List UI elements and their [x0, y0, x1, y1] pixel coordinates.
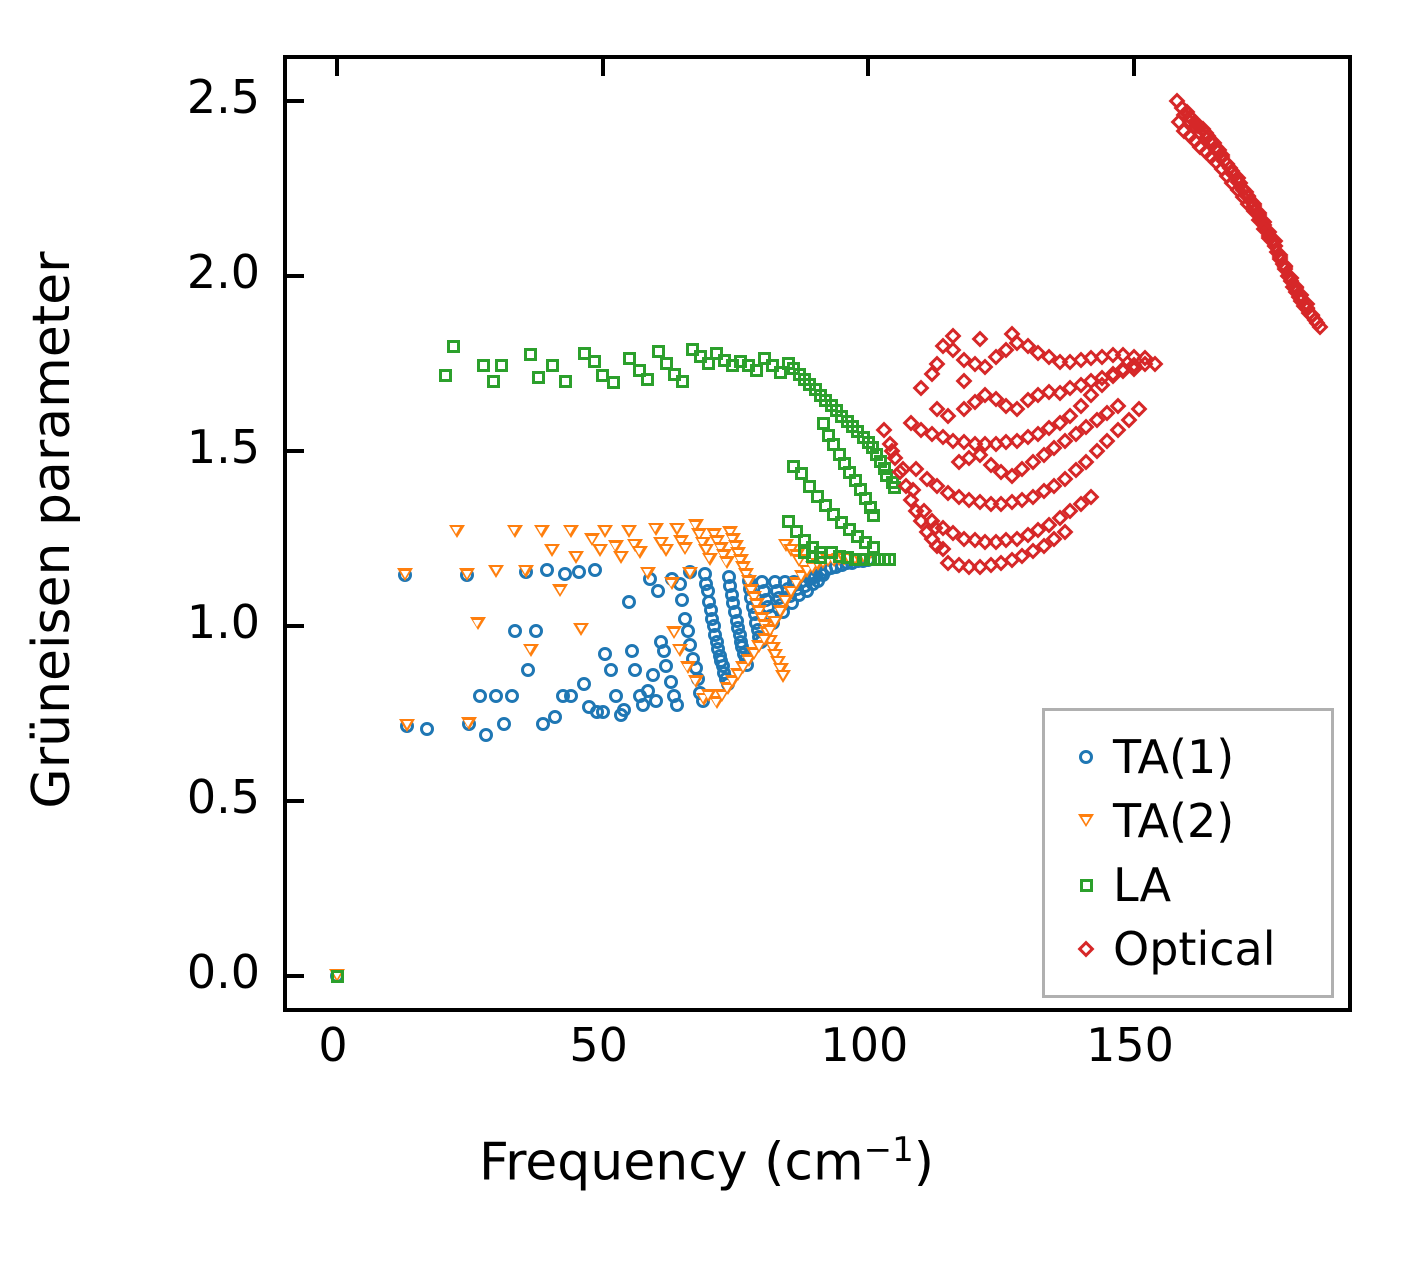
marker-diamond-open	[913, 380, 930, 397]
marker-diamond-open	[1187, 119, 1204, 136]
marker-diamond-open	[1003, 467, 1020, 484]
marker-diamond-open	[1030, 521, 1047, 538]
marker-diamond-open	[1277, 261, 1294, 278]
marker-diamond-open	[950, 453, 967, 470]
marker-diamond-open	[998, 532, 1015, 549]
marker-diamond-open	[1237, 184, 1254, 201]
y-tick-label-1.5: 1.5	[90, 424, 260, 470]
x-tick-label-100: 100	[820, 1022, 908, 1068]
legend-marker-square-open	[1059, 853, 1113, 917]
marker-diamond-open	[1256, 213, 1273, 230]
legend-label: TA(1)	[1113, 731, 1234, 783]
marker-diamond-open	[982, 495, 999, 512]
marker-diamond-open	[1056, 523, 1073, 540]
marker-diamond-open	[1256, 217, 1273, 234]
marker-diamond-open	[1224, 164, 1241, 181]
marker-diamond-open	[1272, 250, 1289, 267]
marker-diamond-open	[1046, 478, 1063, 495]
marker-diamond-open	[1181, 128, 1198, 145]
marker-diamond-open	[950, 556, 967, 573]
marker-diamond-open	[1035, 537, 1052, 554]
marker-diamond-open	[1218, 168, 1235, 185]
marker-diamond-open	[1019, 429, 1036, 446]
marker-diamond-open	[1229, 170, 1246, 187]
marker-diamond-open	[961, 450, 978, 467]
marker-diamond-open	[929, 355, 946, 372]
marker-diamond-open	[924, 425, 941, 442]
marker-diamond-open	[1009, 530, 1026, 547]
marker-diamond-open	[1126, 357, 1143, 374]
marker-diamond-open	[1229, 182, 1246, 199]
marker-diamond-open	[1256, 220, 1273, 237]
marker-diamond-open	[1250, 212, 1267, 229]
marker-diamond-open	[908, 502, 925, 519]
marker-diamond-open	[1266, 238, 1283, 255]
y-tick-0.0	[287, 974, 304, 978]
marker-diamond-open	[1104, 366, 1121, 383]
marker-diamond-open	[892, 464, 909, 481]
marker-diamond-open	[1285, 278, 1302, 295]
marker-diamond-open	[1062, 408, 1079, 425]
legend-item-optical[interactable]: Optical	[1059, 917, 1321, 981]
marker-diamond-open	[1298, 301, 1315, 318]
marker-diamond-open	[924, 513, 941, 530]
marker-diamond-open	[934, 338, 951, 355]
marker-diamond-open	[1099, 404, 1116, 421]
marker-triangle-down-open	[1078, 814, 1094, 827]
marker-diamond-open	[1277, 259, 1294, 276]
marker-diamond-open	[1306, 311, 1323, 328]
marker-diamond-open	[1040, 383, 1057, 400]
marker-diamond-open	[1014, 548, 1031, 565]
marker-diamond-open	[1242, 192, 1259, 209]
marker-diamond-open	[1051, 353, 1068, 370]
marker-diamond-open	[1078, 418, 1095, 435]
marker-diamond-open	[1269, 243, 1286, 260]
marker-diamond-open	[993, 464, 1010, 481]
marker-diamond-open	[1274, 255, 1291, 272]
marker-diamond-open	[1181, 108, 1198, 125]
marker-diamond-open	[987, 348, 1004, 365]
marker-diamond-open	[1173, 100, 1190, 117]
marker-diamond-open	[924, 530, 941, 547]
marker-diamond-open	[1266, 233, 1283, 250]
x-axis-label-tail: )	[914, 1132, 934, 1192]
marker-diamond-open	[1009, 432, 1026, 449]
marker-diamond-open	[1213, 147, 1230, 164]
marker-diamond-open	[1040, 516, 1057, 533]
marker-diamond-open	[881, 436, 898, 453]
marker-diamond-open	[1078, 941, 1095, 958]
marker-diamond-open	[945, 432, 962, 449]
legend-item-ta1[interactable]: TA(1)	[1059, 725, 1321, 789]
marker-diamond-open	[1062, 502, 1079, 519]
marker-diamond-open	[1009, 334, 1026, 351]
y-tick-label-0.5: 0.5	[90, 774, 260, 820]
legend-item-ta2[interactable]: TA(2)	[1059, 789, 1321, 853]
legend-item-la[interactable]: LA	[1059, 853, 1321, 917]
marker-diamond-open	[1056, 471, 1073, 488]
marker-diamond-open	[1301, 304, 1318, 321]
marker-diamond-open	[1014, 492, 1031, 509]
marker-diamond-open	[1261, 227, 1278, 244]
marker-diamond-open	[1168, 93, 1185, 110]
x-axis-label-exponent: −1	[864, 1130, 914, 1170]
marker-diamond-open	[977, 534, 994, 551]
marker-diamond-open	[1266, 238, 1283, 255]
marker-diamond-open	[1094, 369, 1111, 386]
marker-diamond-open	[1019, 338, 1036, 355]
marker-diamond-open	[1003, 551, 1020, 568]
marker-diamond-open	[1234, 189, 1251, 206]
y-axis-label: Grüneisen parameter	[22, 210, 82, 850]
marker-diamond-open	[1171, 114, 1188, 131]
marker-diamond-open	[934, 520, 951, 537]
marker-diamond-open	[945, 341, 962, 358]
marker-diamond-open	[1009, 401, 1026, 418]
marker-diamond-open	[1229, 173, 1246, 190]
x-tick-label-150: 150	[1086, 1022, 1174, 1068]
marker-diamond-open	[1003, 493, 1020, 510]
marker-diamond-open	[1072, 376, 1089, 393]
marker-diamond-open	[950, 488, 967, 505]
marker-diamond-open	[1234, 182, 1251, 199]
x-tick-150	[1132, 59, 1136, 76]
marker-diamond-open	[902, 492, 919, 509]
marker-diamond-open	[1136, 350, 1153, 367]
marker-diamond-open	[894, 460, 911, 477]
marker-diamond-open	[1298, 299, 1315, 316]
marker-diamond-open	[876, 422, 893, 439]
marker-diamond-open	[961, 492, 978, 509]
marker-diamond-open	[1250, 206, 1267, 223]
marker-diamond-open	[1046, 530, 1063, 547]
legend-label: TA(2)	[1113, 795, 1234, 847]
marker-diamond-open	[971, 493, 988, 510]
marker-diamond-open	[1224, 163, 1241, 180]
marker-diamond-open	[1224, 175, 1241, 192]
marker-diamond-open	[902, 415, 919, 432]
marker-diamond-open	[1035, 483, 1052, 500]
marker-diamond-open	[955, 373, 972, 390]
marker-diamond-open	[1030, 345, 1047, 362]
marker-diamond-open	[1136, 355, 1153, 372]
marker-circle-open	[1079, 750, 1093, 764]
marker-diamond-open	[1232, 175, 1249, 192]
marker-diamond-open	[1293, 292, 1310, 309]
marker-diamond-open	[1067, 425, 1084, 442]
marker-diamond-open	[1288, 283, 1305, 300]
marker-diamond-open	[1051, 509, 1068, 526]
marker-diamond-open	[955, 352, 972, 369]
marker-diamond-open	[1208, 138, 1225, 155]
marker-diamond-open	[1293, 290, 1310, 307]
marker-diamond-open	[1296, 297, 1313, 314]
marker-diamond-open	[1240, 187, 1257, 204]
marker-diamond-open	[1115, 362, 1132, 379]
marker-diamond-open	[1046, 439, 1063, 456]
marker-diamond-open	[1083, 387, 1100, 404]
marker-diamond-open	[1003, 325, 1020, 342]
marker-diamond-open	[1088, 443, 1105, 460]
marker-diamond-open	[897, 478, 914, 495]
x-tick-100	[866, 59, 870, 76]
marker-diamond-open	[987, 534, 1004, 551]
marker-diamond-open	[1208, 154, 1225, 171]
marker-diamond-open	[971, 558, 988, 575]
marker-diamond-open	[884, 443, 901, 460]
legend-marker-diamond-open	[1059, 917, 1113, 981]
marker-diamond-open	[945, 525, 962, 542]
marker-diamond-open	[1216, 152, 1233, 169]
marker-diamond-open	[1083, 350, 1100, 367]
marker-diamond-open	[1303, 306, 1320, 323]
marker-diamond-open	[998, 397, 1015, 414]
y-tick-label-2.0: 2.0	[90, 249, 260, 295]
marker-diamond-open	[1203, 149, 1220, 166]
marker-diamond-open	[1176, 107, 1193, 124]
marker-diamond-open	[1245, 198, 1262, 215]
marker-diamond-open	[1051, 415, 1068, 432]
marker-diamond-open	[1035, 446, 1052, 463]
marker-diamond-open	[1192, 119, 1209, 136]
marker-diamond-open	[1083, 488, 1100, 505]
marker-diamond-open	[1078, 453, 1095, 470]
marker-diamond-open	[1110, 397, 1127, 414]
marker-diamond-open	[966, 394, 983, 411]
marker-diamond-open	[966, 355, 983, 372]
marker-diamond-open	[971, 446, 988, 463]
y-tick-0.5	[287, 799, 304, 803]
marker-diamond-open	[1126, 348, 1143, 365]
marker-diamond-open	[955, 434, 972, 451]
marker-diamond-open	[1311, 318, 1328, 335]
marker-diamond-open	[1179, 103, 1196, 120]
y-tick-label-2.5: 2.5	[90, 74, 260, 120]
marker-diamond-open	[1104, 367, 1121, 384]
marker-diamond-open	[971, 331, 988, 348]
legend-marker-circle-open	[1059, 725, 1113, 789]
y-tick-label-1.0: 1.0	[90, 599, 260, 645]
marker-diamond-open	[1250, 205, 1267, 222]
marker-diamond-open	[1120, 411, 1137, 428]
marker-diamond-open	[1197, 129, 1214, 146]
marker-diamond-open	[998, 434, 1015, 451]
marker-diamond-open	[1192, 124, 1209, 141]
marker-diamond-open	[1088, 411, 1105, 428]
marker-diamond-open	[1203, 135, 1220, 152]
marker-diamond-open	[1282, 269, 1299, 286]
marker-diamond-open	[993, 495, 1010, 512]
marker-diamond-open	[1309, 315, 1326, 332]
marker-diamond-open	[1126, 360, 1143, 377]
figure-canvas: Grüneisen parameter 0.00.51.01.52.02.5 0…	[0, 0, 1413, 1264]
marker-diamond-open	[1240, 196, 1257, 213]
marker-diamond-open	[982, 457, 999, 474]
marker-diamond-open	[1218, 156, 1235, 173]
marker-diamond-open	[1056, 432, 1073, 449]
marker-diamond-open	[966, 436, 983, 453]
y-tick-1.5	[287, 449, 304, 453]
marker-diamond-open	[1282, 269, 1299, 286]
marker-diamond-open	[1240, 189, 1257, 206]
marker-diamond-open	[1253, 212, 1270, 229]
marker-diamond-open	[1261, 229, 1278, 246]
marker-diamond-open	[1195, 121, 1212, 138]
y-tick-2.5	[287, 99, 304, 103]
marker-diamond-open	[1213, 161, 1230, 178]
x-axis-label-base: Frequency (cm	[479, 1132, 864, 1192]
marker-diamond-open	[918, 471, 935, 488]
marker-diamond-open	[1062, 380, 1079, 397]
marker-diamond-open	[913, 513, 930, 530]
marker-diamond-open	[1067, 462, 1084, 479]
marker-diamond-open	[993, 555, 1010, 572]
marker-diamond-open	[905, 481, 922, 498]
marker-diamond-open	[1258, 222, 1275, 239]
marker-diamond-open	[1181, 114, 1198, 131]
marker-diamond-open	[913, 422, 930, 439]
marker-diamond-open	[955, 530, 972, 547]
marker-diamond-open	[1192, 138, 1209, 155]
marker-diamond-open	[987, 436, 1004, 453]
marker-diamond-open	[1094, 348, 1111, 365]
marker-diamond-open	[966, 532, 983, 549]
marker-diamond-open	[1131, 401, 1148, 418]
marker-diamond-open	[1282, 273, 1299, 290]
marker-diamond-open	[1245, 203, 1262, 220]
legend-label: LA	[1113, 859, 1171, 911]
marker-diamond-open	[1115, 360, 1132, 377]
y-tick-2.0	[287, 274, 304, 278]
marker-diamond-open	[1083, 373, 1100, 390]
marker-diamond-open	[1205, 135, 1222, 152]
marker-diamond-open	[1147, 355, 1164, 372]
marker-diamond-open	[1197, 124, 1214, 141]
legend-label: Optical	[1113, 923, 1275, 975]
marker-diamond-open	[1245, 196, 1262, 213]
marker-diamond-open	[916, 502, 933, 519]
marker-diamond-open	[1030, 387, 1047, 404]
marker-diamond-open	[1051, 385, 1068, 402]
marker-diamond-open	[929, 401, 946, 418]
legend-box[interactable]: TA(1)TA(2)LAOptical	[1042, 708, 1334, 998]
marker-diamond-open	[1213, 149, 1230, 166]
marker-diamond-open	[1040, 420, 1057, 437]
marker-diamond-open	[1272, 247, 1289, 264]
marker-diamond-open	[1104, 346, 1121, 363]
marker-diamond-open	[1211, 142, 1228, 159]
marker-diamond-open	[1261, 224, 1278, 241]
marker-diamond-open	[1280, 268, 1297, 285]
y-tick-1.0	[287, 624, 304, 628]
marker-diamond-open	[1072, 495, 1089, 512]
marker-diamond-open	[945, 327, 962, 344]
marker-diamond-open	[1184, 110, 1201, 127]
marker-diamond-open	[1025, 542, 1042, 559]
marker-diamond-open	[1187, 133, 1204, 150]
marker-diamond-open	[940, 555, 957, 572]
marker-diamond-open	[926, 520, 943, 537]
marker-diamond-open	[1025, 453, 1042, 470]
marker-diamond-open	[982, 556, 999, 573]
marker-diamond-open	[1298, 296, 1315, 313]
marker-diamond-open	[1062, 353, 1079, 370]
marker-diamond-open	[955, 401, 972, 418]
x-tick-0	[335, 59, 339, 76]
marker-diamond-open	[929, 478, 946, 495]
marker-diamond-open	[1248, 201, 1265, 218]
legend-marker-triangle-down-open	[1059, 789, 1113, 853]
marker-diamond-open	[1200, 128, 1217, 145]
x-tick-label-50: 50	[569, 1022, 628, 1068]
marker-diamond-open	[1293, 287, 1310, 304]
x-tick-50	[601, 59, 605, 76]
marker-diamond-open	[961, 558, 978, 575]
x-axis-label: Frequency (cm−1)	[0, 1120, 1413, 1192]
marker-diamond-open	[1099, 432, 1116, 449]
y-tick-label-0.0: 0.0	[90, 949, 260, 995]
marker-diamond-open	[977, 436, 994, 453]
marker-diamond-open	[929, 537, 946, 554]
marker-diamond-open	[1176, 122, 1193, 139]
marker-diamond-open	[1030, 425, 1047, 442]
marker-diamond-open	[1221, 159, 1238, 176]
marker-diamond-open	[908, 460, 925, 477]
marker-diamond-open	[934, 541, 951, 558]
marker-diamond-open	[1290, 289, 1307, 306]
marker-diamond-open	[1197, 143, 1214, 160]
marker-diamond-open	[1187, 114, 1204, 131]
marker-diamond-open	[924, 366, 941, 383]
marker-diamond-open	[1208, 142, 1225, 159]
marker-square-open	[1080, 879, 1093, 892]
marker-diamond-open	[1014, 460, 1031, 477]
marker-diamond-open	[998, 341, 1015, 358]
marker-diamond-open	[1226, 166, 1243, 183]
marker-diamond-open	[977, 387, 994, 404]
marker-diamond-open	[1288, 278, 1305, 295]
marker-diamond-open	[934, 429, 951, 446]
marker-diamond-open	[1277, 257, 1294, 274]
marker-diamond-open	[1272, 248, 1289, 265]
marker-diamond-open	[1019, 527, 1036, 544]
marker-diamond-open	[940, 485, 957, 502]
marker-diamond-open	[1072, 397, 1089, 414]
marker-diamond-open	[1040, 348, 1057, 365]
marker-diamond-open	[886, 450, 903, 467]
marker-diamond-open	[940, 408, 957, 425]
marker-diamond-open	[1025, 488, 1042, 505]
marker-diamond-open	[977, 359, 994, 376]
marker-diamond-open	[1115, 346, 1132, 363]
x-tick-label-0: 0	[318, 1022, 347, 1068]
marker-diamond-open	[1203, 131, 1220, 148]
marker-diamond-open	[987, 390, 1004, 407]
marker-diamond-open	[1264, 233, 1281, 250]
marker-diamond-open	[1218, 156, 1235, 173]
marker-diamond-open	[918, 523, 935, 540]
marker-diamond-open	[1303, 308, 1320, 325]
marker-diamond-open	[1288, 280, 1305, 297]
marker-diamond-open	[1234, 180, 1251, 197]
marker-diamond-open	[1189, 117, 1206, 134]
marker-diamond-open	[1110, 422, 1127, 439]
marker-diamond-open	[1072, 352, 1089, 369]
marker-diamond-open	[1094, 376, 1111, 393]
marker-diamond-open	[1019, 392, 1036, 409]
